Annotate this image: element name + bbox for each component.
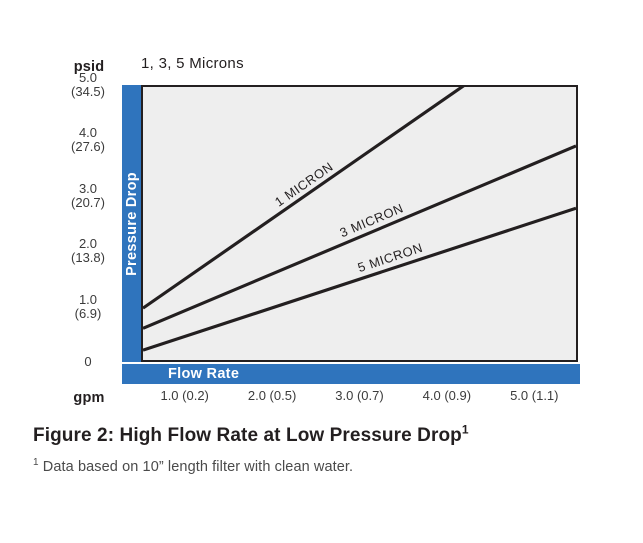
x-axis-unit-label: gpm	[58, 390, 120, 406]
x-axis-band: Flow Rate	[122, 364, 580, 384]
y-axis-tick: 0	[55, 355, 121, 369]
chart-title: 1, 3, 5 Microns	[141, 55, 244, 72]
chart: psid 1, 3, 5 Microns 5.0(34.5)4.0(27.6)3…	[0, 0, 643, 412]
y-axis-tick-metric: (34.5)	[55, 85, 121, 99]
x-axis-tick: 3.0 (0.7)	[315, 388, 405, 403]
x-axis-tick: 4.0 (0.9)	[402, 388, 492, 403]
y-axis-tick-value: 1.0	[79, 292, 97, 307]
y-axis-tick: 2.0(13.8)	[55, 237, 121, 265]
y-axis-tick: 1.0(6.9)	[55, 293, 121, 321]
figure-footnote: 1 Data based on 10” length filter with c…	[33, 459, 353, 475]
y-axis-title: Pressure Drop	[124, 172, 140, 276]
figure-container: psid 1, 3, 5 Microns 5.0(34.5)4.0(27.6)3…	[0, 0, 643, 543]
series-line	[143, 87, 482, 308]
plot-svg: 1 MICRON3 MICRON5 MICRON	[143, 87, 576, 360]
y-axis-tick-value: 2.0	[79, 236, 97, 251]
figure-caption-superscript: 1	[462, 423, 469, 437]
y-axis-tick-value: 4.0	[79, 125, 97, 140]
y-axis-tick: 5.0(34.5)	[55, 71, 121, 99]
y-axis-tick-metric: (6.9)	[55, 307, 121, 321]
y-axis-band: Pressure Drop	[122, 85, 141, 362]
x-axis-tick: 1.0 (0.2)	[140, 388, 230, 403]
x-axis-tick: 2.0 (0.5)	[227, 388, 317, 403]
y-axis-tick-metric: (20.7)	[55, 196, 121, 210]
y-axis-tick: 3.0(20.7)	[55, 182, 121, 210]
figure-caption: Figure 2: High Flow Rate at Low Pressure…	[33, 425, 469, 447]
series-label: 1 MICRON	[272, 159, 336, 210]
x-axis-title: Flow Rate	[168, 366, 239, 382]
y-axis-tick-metric: (13.8)	[55, 251, 121, 265]
series-label: 3 MICRON	[337, 200, 405, 240]
figure-caption-text: Figure 2: High Flow Rate at Low Pressure…	[33, 425, 462, 446]
footnote-text: Data based on 10” length filter with cle…	[39, 459, 354, 475]
y-axis-tick-metric: (27.6)	[55, 140, 121, 154]
y-axis-tick-value: 3.0	[79, 181, 97, 196]
plot-area: 1 MICRON3 MICRON5 MICRON	[141, 85, 578, 362]
x-axis-tick: 5.0 (1.1)	[489, 388, 579, 403]
y-axis-tick-labels: 5.0(34.5)4.0(27.6)3.0(20.7)2.0(13.8)1.0(…	[55, 80, 121, 365]
x-axis-tick-labels: 1.0 (0.2)2.0 (0.5)3.0 (0.7)4.0 (0.9)5.0 …	[141, 388, 578, 408]
series-line	[143, 146, 576, 328]
series-labels: 1 MICRON3 MICRON5 MICRON	[272, 159, 425, 275]
y-axis-tick: 4.0(27.6)	[55, 126, 121, 154]
y-axis-tick-value: 5.0	[79, 70, 97, 85]
y-axis-tick-value: 0	[84, 354, 91, 369]
